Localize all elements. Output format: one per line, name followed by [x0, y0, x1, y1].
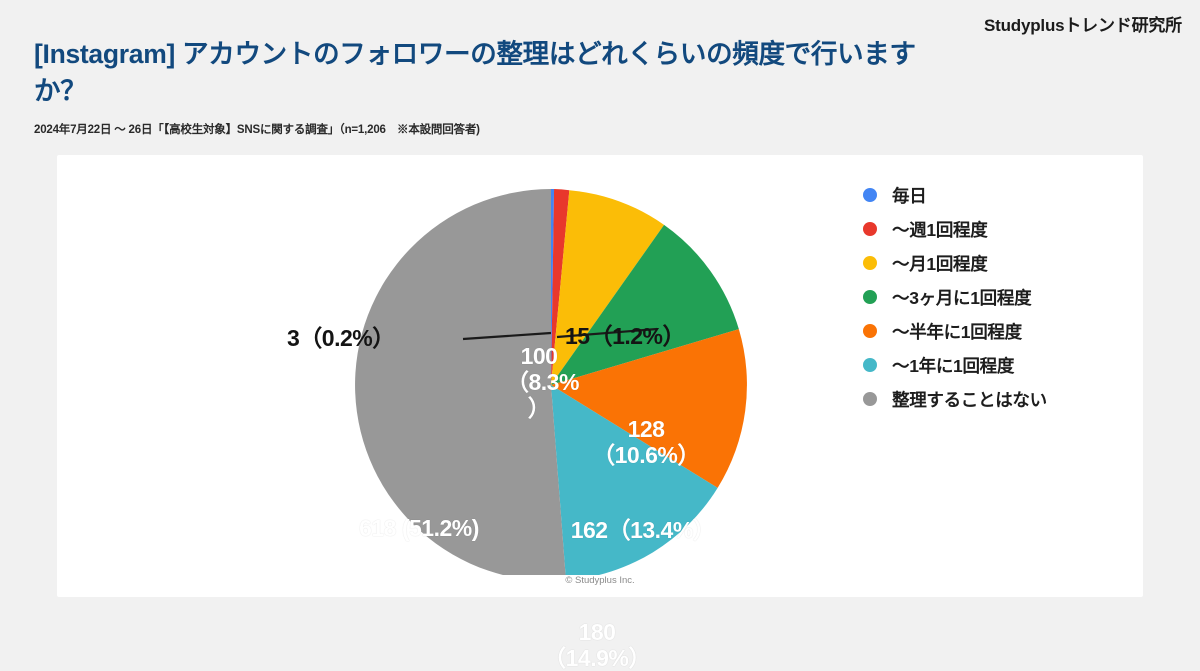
- legend-swatch-circle-icon: [863, 188, 877, 202]
- legend-item-three-months[interactable]: 〜3ヶ月に1回程度: [863, 280, 1113, 314]
- legend-item-half-year[interactable]: 〜半年に1回程度: [863, 314, 1113, 348]
- slice-label-one-year: 180 （14.9%）: [522, 619, 672, 671]
- slide-canvas: Studyplusトレンド研究所 [Instagram] アカウントのフォロワー…: [0, 0, 1200, 630]
- page-title: [Instagram] アカウントのフォロワーの整理はどれくらいの頻度で行います…: [34, 36, 934, 109]
- slice-label-half-year: 162（13.4%）: [533, 517, 753, 543]
- legend-item-label: 〜1年に1回程度: [892, 353, 1014, 378]
- legend-swatch-circle-icon: [863, 358, 877, 372]
- chart-card: 3（0.2%） 15（1.2%） 100 （8.3% ） 128 （10.6%）…: [57, 155, 1143, 597]
- survey-caption: 2024年7月22日 〜 26日「【高校生対象】SNSに関する調査」（n=1,2…: [34, 121, 480, 137]
- callout-label-weekly: 15（1.2%）: [565, 317, 685, 351]
- legend-item-weekly[interactable]: 〜週1回程度: [863, 212, 1113, 246]
- chart-legend: 毎日 〜週1回程度 〜月1回程度 〜3ヶ月に1回程度 〜半年に1回程度: [863, 178, 1113, 416]
- copyright-notice: © Studyplus Inc.: [57, 575, 1143, 586]
- legend-swatch-circle-icon: [863, 222, 877, 236]
- pie-chart: 3（0.2%） 15（1.2%） 100 （8.3% ） 128 （10.6%）…: [57, 155, 1143, 597]
- slice-label-never: 618 (51.2%): [304, 515, 534, 541]
- slice-label-three-months: 128 （10.6%）: [576, 416, 716, 468]
- callout-label-daily: 3（0.2%）: [287, 319, 395, 353]
- legend-item-monthly[interactable]: 〜月1回程度: [863, 246, 1113, 280]
- slice-label-monthly: 100 （8.3% ）: [506, 343, 572, 422]
- legend-swatch-circle-icon: [863, 256, 877, 270]
- legend-swatch-circle-icon: [863, 392, 877, 406]
- legend-item-one-year[interactable]: 〜1年に1回程度: [863, 348, 1113, 382]
- legend-item-label: 整理することはない: [892, 387, 1047, 412]
- legend-item-label: 〜週1回程度: [892, 217, 987, 242]
- legend-item-daily[interactable]: 毎日: [863, 178, 1113, 212]
- legend-item-label: 〜月1回程度: [892, 251, 987, 276]
- legend-item-label: 毎日: [892, 183, 926, 208]
- legend-item-label: 〜半年に1回程度: [892, 319, 1022, 344]
- legend-swatch-circle-icon: [863, 324, 877, 338]
- brand-label: Studyplusトレンド研究所: [984, 11, 1182, 36]
- legend-swatch-circle-icon: [863, 290, 877, 304]
- legend-item-never[interactable]: 整理することはない: [863, 382, 1113, 416]
- legend-item-label: 〜3ヶ月に1回程度: [892, 285, 1031, 310]
